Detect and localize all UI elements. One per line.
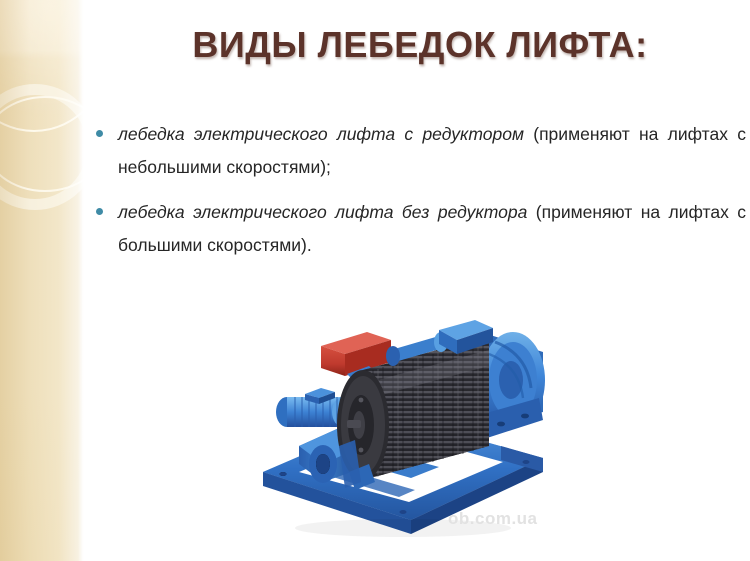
bullet-emphasis: лебедка электрического лифта без редукто… [118,202,527,222]
bullet-dot-icon [96,208,103,215]
photo-watermark: ob.com.ua [448,509,538,529]
decorative-sidebar [0,0,84,561]
bullet-list: лебедка электрического лифта с редукторо… [92,118,746,274]
sidebar-shading [0,0,84,561]
list-item: лебедка электрического лифта с редукторо… [92,118,746,184]
page-title: ВИДЫ ЛЕБЕДОК ЛИФТА: [100,24,740,66]
bullet-text: лебедка электрического лифта без редукто… [92,196,746,262]
bullet-emphasis: лебедка электрического лифта с редукторо… [118,124,524,144]
bullet-text: лебедка электрического лифта с редукторо… [92,118,746,184]
bullet-dot-icon [96,130,103,137]
sidebar-edge-fade [78,0,84,561]
slide-canvas: ВИДЫ ЛЕБЕДОК ЛИФТА: лебедка электрическо… [0,0,750,561]
list-item: лебедка электрического лифта без редукто… [92,196,746,262]
